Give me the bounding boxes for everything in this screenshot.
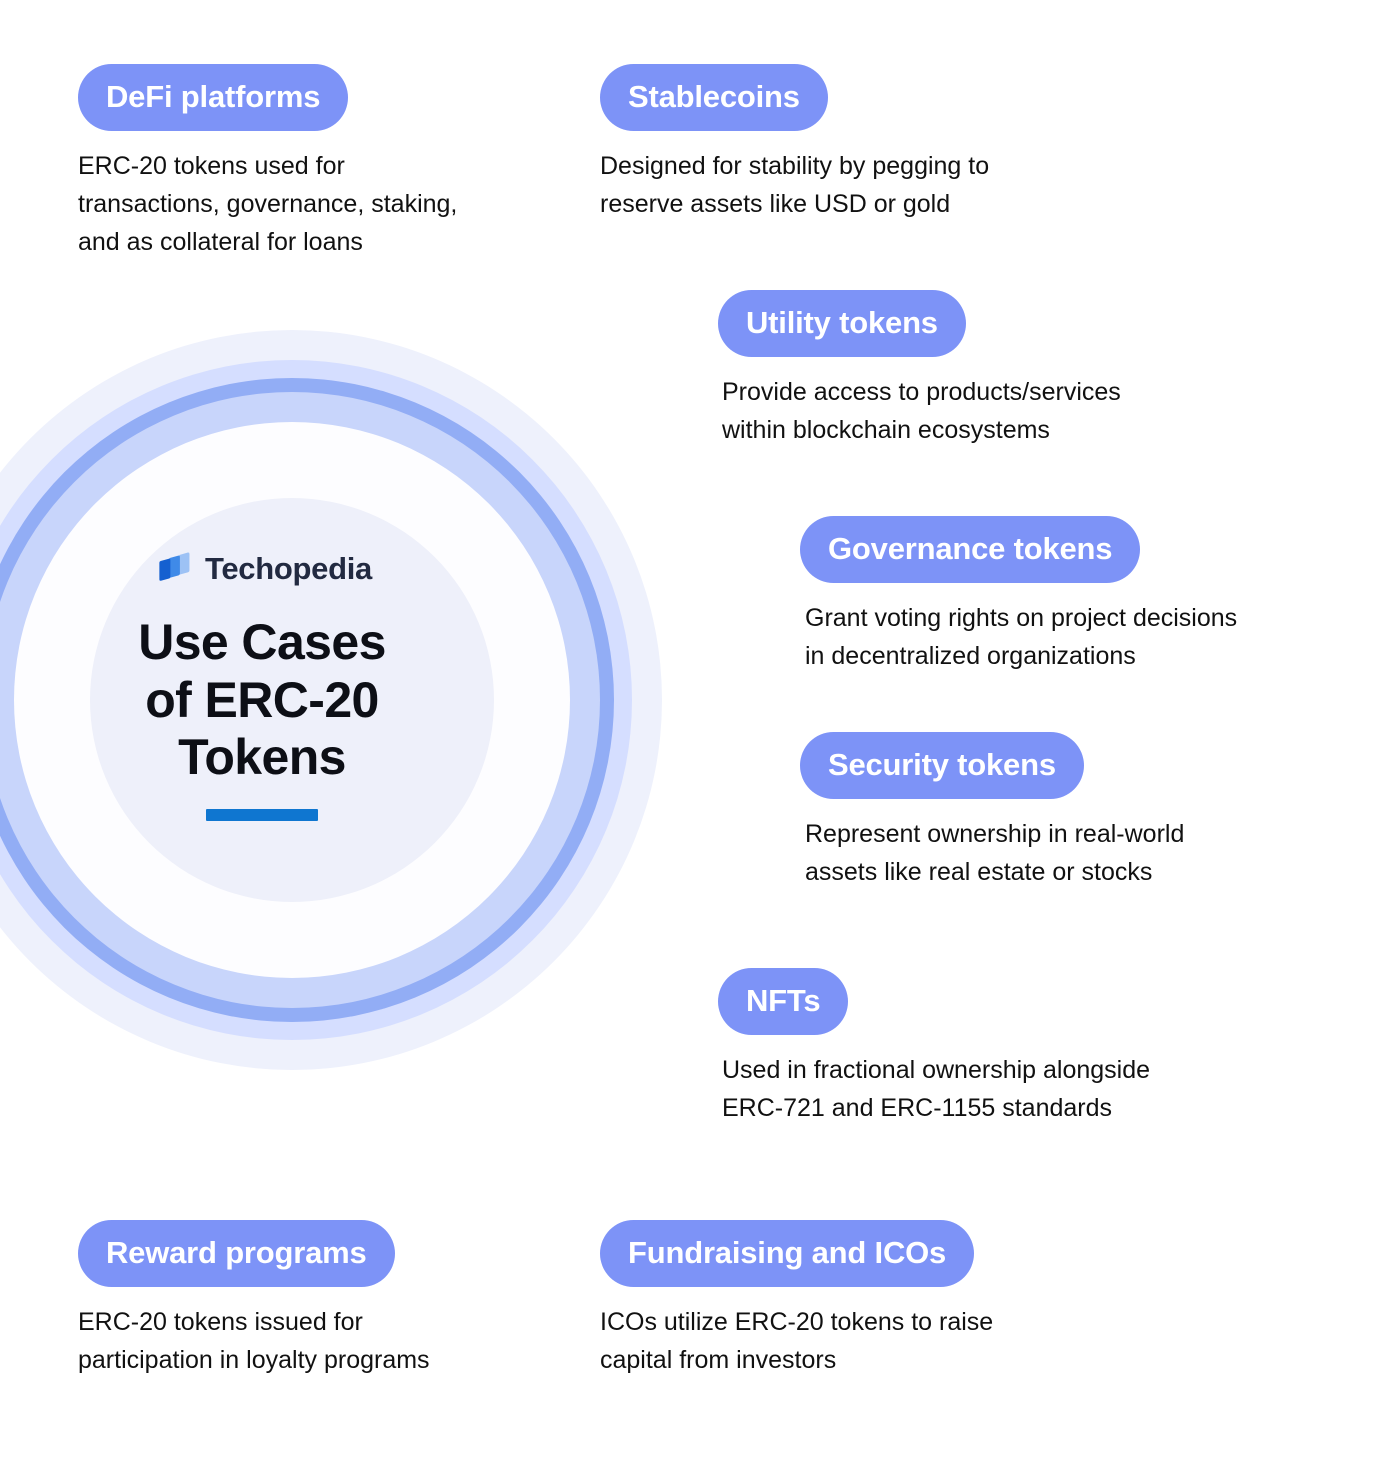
title-underline-accent [206,809,318,821]
page-title: Use Cases of ERC-20 Tokens [0,614,524,787]
use-case-label-utility-tokens: Utility tokens [718,290,966,357]
brand-wordmark: Techopedia [205,553,372,584]
use-case-label-stablecoins: Stablecoins [600,64,828,131]
use-case-description-stablecoins: Designed for stability by pegging to res… [600,147,1140,223]
use-case-label-security-tokens: Security tokens [800,732,1084,799]
use-case-description-governance-tokens: Grant voting rights on project decisions… [800,599,1360,675]
center-panel: Techopedia Use Cases of ERC-20 Tokens [0,548,524,821]
use-case-fundraising-and-icos: Fundraising and ICOs ICOs utilize ERC-20… [600,1220,1140,1379]
use-case-utility-tokens: Utility tokens Provide access to product… [718,290,1278,449]
use-case-label-reward-programs: Reward programs [78,1220,395,1287]
use-case-security-tokens: Security tokens Represent ownership in r… [800,732,1340,891]
use-case-description-utility-tokens: Provide access to products/services with… [718,373,1278,449]
brand-lockup: Techopedia [0,548,524,588]
use-case-stablecoins: Stablecoins Designed for stability by pe… [600,64,1140,223]
techopedia-logo-icon [152,548,192,588]
use-case-label-fundraising-and-icos: Fundraising and ICOs [600,1220,974,1287]
use-case-description-security-tokens: Represent ownership in real-world assets… [800,815,1340,891]
use-case-reward-programs: Reward programs ERC-20 tokens issued for… [78,1220,598,1379]
use-case-governance-tokens: Governance tokens Grant voting rights on… [800,516,1360,675]
infographic-canvas: Techopedia Use Cases of ERC-20 Tokens De… [0,0,1390,1457]
use-case-nfts: NFTs Used in fractional ownership alongs… [718,968,1278,1127]
use-case-label-governance-tokens: Governance tokens [800,516,1140,583]
use-case-defi-platforms: DeFi platforms ERC-20 tokens used for tr… [78,64,598,261]
use-case-label-defi-platforms: DeFi platforms [78,64,348,131]
use-case-description-nfts: Used in fractional ownership alongside E… [718,1051,1278,1127]
use-case-description-fundraising-and-icos: ICOs utilize ERC-20 tokens to raise capi… [600,1303,1140,1379]
use-case-label-nfts: NFTs [718,968,848,1035]
use-case-description-reward-programs: ERC-20 tokens issued for participation i… [78,1303,598,1379]
use-case-description-defi-platforms: ERC-20 tokens used for transactions, gov… [78,147,598,261]
